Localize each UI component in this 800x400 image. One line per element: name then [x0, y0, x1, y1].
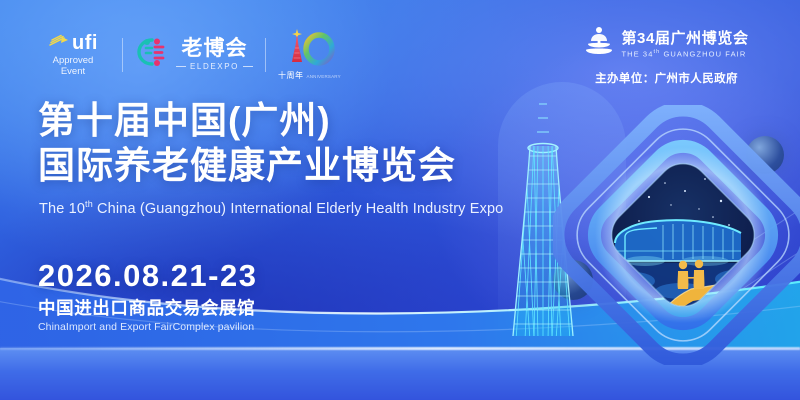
guangzhou-fair-emblem-icon [584, 26, 614, 63]
ufi-event-label: Event [53, 66, 94, 77]
poster-headline: 第十届中国(广州) 国际养老健康产业博览会 [38, 98, 456, 188]
logo-divider-1 [122, 38, 123, 72]
poster-subtitle-english: The 10th China (Guangzhou) International… [39, 199, 503, 217]
anniversary-tower-number-icon [281, 28, 337, 71]
expo-poster: ufi Approved Event 老博会 [0, 0, 800, 400]
eldexpo-english-name: ELDEXPO [176, 62, 253, 71]
eldexpo-logo: 老博会 ELDEXPO [135, 35, 253, 74]
organizer-label: 主办单位：广州市人民政府 [559, 70, 774, 86]
diamond-emblem-illustration [553, 105, 800, 365]
venue-chinese: 中国进出口商品交易会展馆 [38, 296, 257, 320]
ufi-approved-event-logo: ufi Approved Event [36, 33, 110, 77]
logo-divider-2 [265, 38, 266, 72]
ufi-wordmark: ufi [72, 33, 98, 53]
headline-line-2: 国际养老健康产业博览会 [38, 143, 456, 188]
guangzhou-fair-english-title: THE 34th GUANGZHOU FAIR [621, 49, 746, 59]
guangzhou-fair-logo-block: 第34届广州博览会 THE 34th GUANGZHOU FAIR 主办单位：广… [559, 26, 774, 86]
eldexpo-chinese-name: 老博会 [182, 38, 248, 60]
ufi-swoosh-icon [48, 34, 70, 53]
partner-logos: ufi Approved Event 老博会 [36, 28, 341, 81]
ufi-approved-label: Approved [53, 55, 94, 66]
date-venue-block: 2026.08.21-23 中国进出口商品交易会展馆 ChinaImport a… [38, 258, 257, 334]
anniversary-chinese-label: 十周年 [278, 70, 304, 81]
headline-line-1: 第十届中国(广州) [38, 98, 456, 143]
event-date: 2026.08.21-23 [38, 258, 257, 294]
guangzhou-fair-chinese-title: 第34届广州博览会 [621, 31, 748, 47]
venue-english: ChinaImport and Export FairComplex pavil… [38, 320, 257, 334]
anniversary-10-logo: 十周年 ANNIVERSARY [278, 28, 341, 81]
eldexpo-figures-icon [135, 35, 169, 74]
anniversary-english-label: ANNIVERSARY [307, 74, 341, 79]
